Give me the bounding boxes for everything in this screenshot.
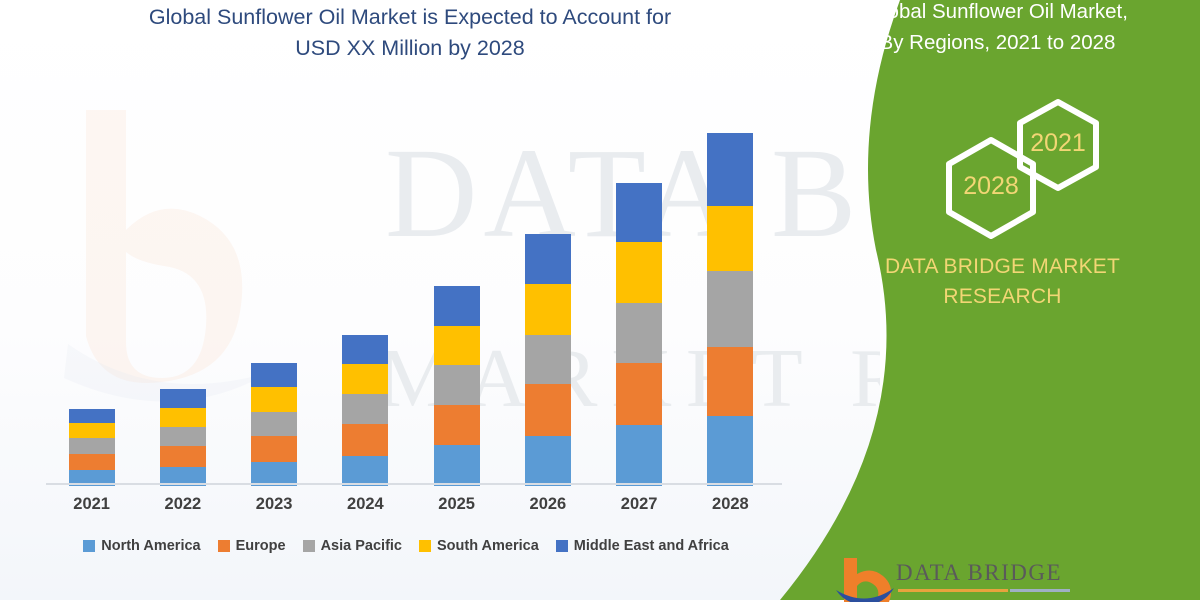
bar-2027[interactable] [616,183,662,486]
bar-2024[interactable] [342,335,388,486]
footer-logo: DATA BRIDGE [836,556,1136,602]
bar-segment-2023-series-3[interactable] [251,387,297,411]
bar-segment-2025-series-2[interactable] [434,365,480,405]
footer-logo-text: DATA BRIDGE [896,560,1062,586]
legend-label: Europe [236,538,286,554]
bar-segment-2026-series-2[interactable] [525,335,571,385]
legend-swatch-icon [83,540,95,552]
x-axis-tick-2028: 2028 [684,495,776,514]
chart-title-line-1: Global Sunflower Oil Market is Expected … [60,2,760,33]
bar-segment-2028-series-4[interactable] [707,133,753,206]
x-axis-tick-2023: 2023 [228,495,320,514]
legend-label: Asia Pacific [321,538,402,554]
x-axis-line [46,483,782,485]
bar-segment-2025-series-4[interactable] [434,286,480,326]
bar-segment-2028-series-2[interactable] [707,271,753,347]
footer-rule-right [1010,589,1070,592]
x-axis-tick-2026: 2026 [502,495,594,514]
bar-segment-2026-series-3[interactable] [525,284,571,335]
legend-swatch-icon [556,540,568,552]
bar-2023[interactable] [251,363,297,486]
bar-segment-2027-series-2[interactable] [616,303,662,363]
bar-segment-2025-series-1[interactable] [434,405,480,446]
bar-segment-2022-series-3[interactable] [160,408,206,427]
x-axis-tick-2027: 2027 [593,495,685,514]
legend-label: Middle East and Africa [574,538,729,554]
legend-item-2[interactable]: Asia Pacific [303,538,402,554]
bar-segment-2024-series-4[interactable] [342,335,388,364]
page-title: Global Sunflower Oil Market is Expected … [60,2,760,64]
chart-legend: North AmericaEuropeAsia PacificSouth Ame… [0,538,812,554]
data-bridge-logo-mark-icon [836,556,894,602]
bar-2025[interactable] [434,286,480,486]
x-axis-tick-2021: 2021 [46,495,138,514]
chart-title-line-2: USD XX Million by 2028 [60,33,760,64]
bar-segment-2022-series-1[interactable] [160,446,206,466]
bar-segment-2025-series-3[interactable] [434,326,480,366]
bar-segment-2021-series-2[interactable] [69,438,115,453]
bar-segment-2022-series-2[interactable] [160,427,206,446]
bar-2026[interactable] [525,234,571,486]
plot-area [46,100,776,486]
x-axis-tick-2022: 2022 [137,495,229,514]
legend-label: North America [101,538,200,554]
bar-segment-2027-series-0[interactable] [616,425,662,486]
x-axis-tick-2025: 2025 [411,495,503,514]
bar-segment-2024-series-3[interactable] [342,364,388,393]
bar-segment-2022-series-4[interactable] [160,389,206,408]
hex-badge-2028-label: 2028 [938,172,1044,201]
bar-segment-2021-series-4[interactable] [69,409,115,423]
legend-item-0[interactable]: North America [83,538,200,554]
legend-item-4[interactable]: Middle East and Africa [556,538,729,554]
brand-line-2: RESEARCH [870,282,1135,312]
brand-line-1: DATA BRIDGE MARKET [870,252,1135,282]
bar-segment-2026-series-1[interactable] [525,384,571,436]
green-title-line-1: Global Sunflower Oil Market, [795,0,1200,27]
bar-segment-2024-series-2[interactable] [342,394,388,424]
bar-segment-2021-series-1[interactable] [69,454,115,470]
legend-swatch-icon [218,540,230,552]
bar-2021[interactable] [69,409,115,486]
bar-segment-2028-series-0[interactable] [707,416,753,486]
legend-item-1[interactable]: Europe [218,538,286,554]
bar-segment-2023-series-2[interactable] [251,412,297,436]
bar-segment-2025-series-0[interactable] [434,445,480,486]
bar-segment-2026-series-0[interactable] [525,436,571,486]
bar-segment-2026-series-4[interactable] [525,234,571,284]
bar-segment-2024-series-0[interactable] [342,456,388,486]
legend-label: South America [437,538,539,554]
brand-name: DATA BRIDGE MARKET RESEARCH [870,252,1135,312]
legend-item-3[interactable]: South America [419,538,539,554]
bar-segment-2023-series-1[interactable] [251,436,297,461]
green-panel-title: Global Sunflower Oil Market, By Regions,… [795,0,1200,58]
legend-swatch-icon [419,540,431,552]
green-title-line-2: By Regions, 2021 to 2028 [795,27,1200,58]
bar-segment-2021-series-3[interactable] [69,423,115,438]
bar-segment-2027-series-3[interactable] [616,242,662,303]
bar-2028[interactable] [707,133,753,486]
bar-segment-2023-series-4[interactable] [251,363,297,387]
chart-panel: DATA B MARKET RESEARCH Global Sunflower … [0,0,880,600]
bar-segment-2027-series-4[interactable] [616,183,662,242]
bar-segment-2028-series-1[interactable] [707,347,753,416]
bar-segment-2027-series-1[interactable] [616,363,662,425]
x-axis-tick-2024: 2024 [319,495,411,514]
bar-2022[interactable] [160,389,206,487]
bar-segment-2028-series-3[interactable] [707,206,753,271]
hex-badge-2028: 2028 [938,135,1044,241]
x-axis-labels: 20212022202320242025202620272028 [46,495,782,521]
legend-swatch-icon [303,540,315,552]
footer-rule-left [898,589,1008,592]
bar-segment-2024-series-1[interactable] [342,424,388,455]
